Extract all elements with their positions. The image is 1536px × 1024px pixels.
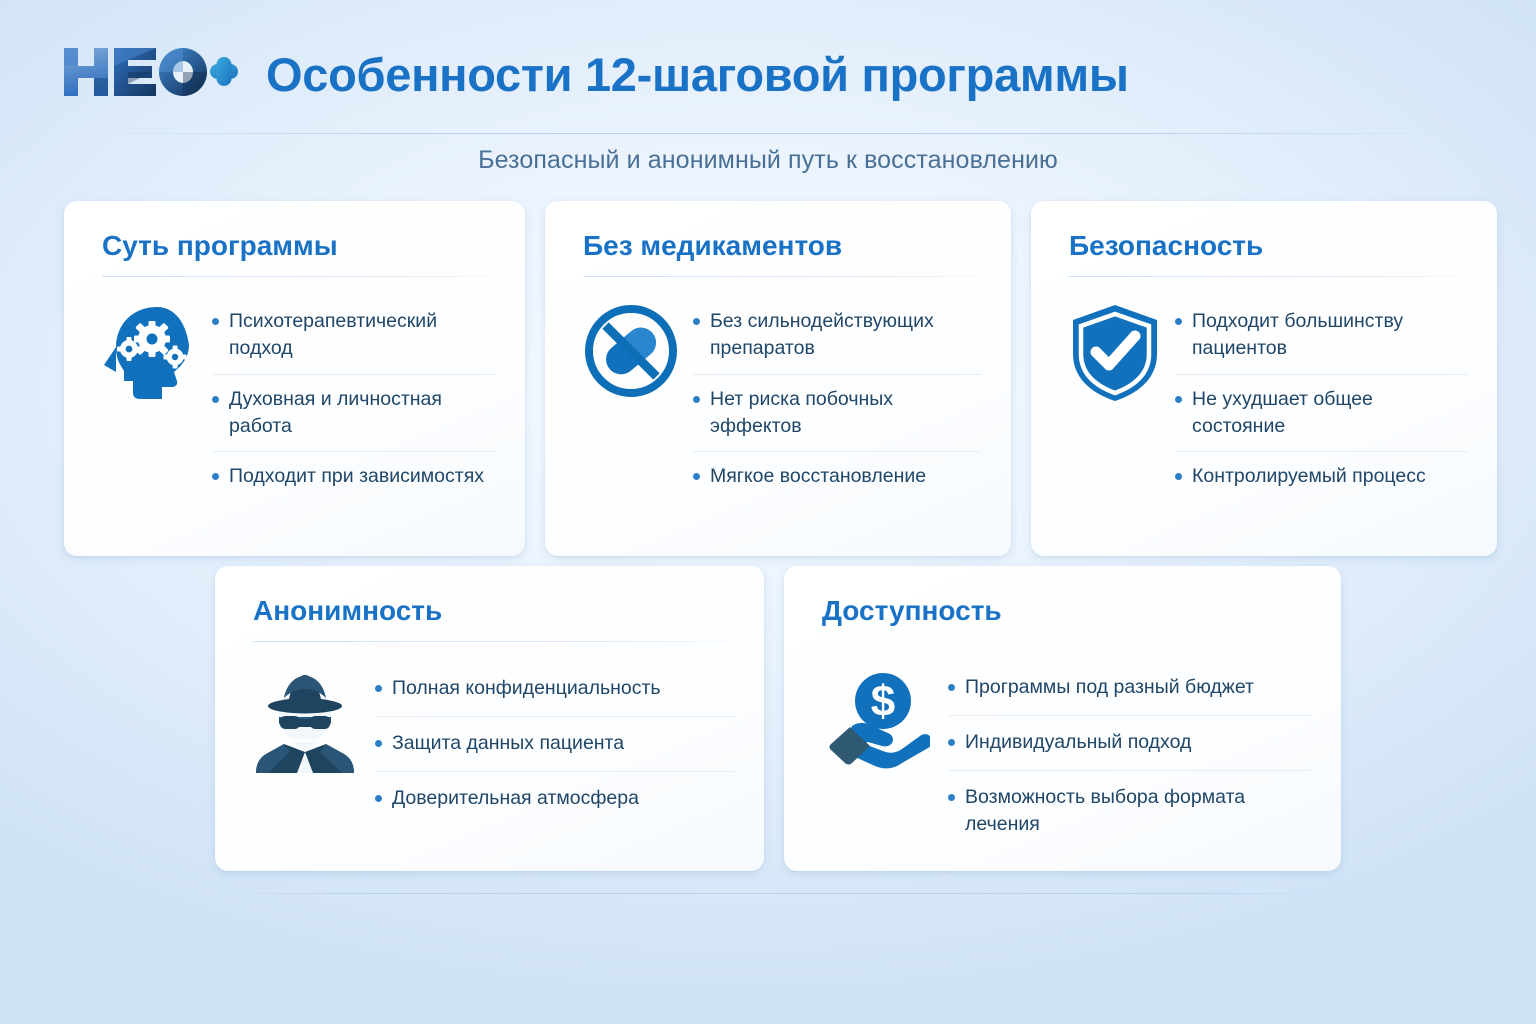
list-item: Духовная и личностная работа	[212, 374, 495, 452]
spy-incognito-icon	[253, 660, 357, 783]
list-item: Индивидуальный подход	[948, 715, 1311, 770]
card-title-divider	[253, 641, 734, 642]
card-bullet-list: Психотерапевтический подход Духовная и л…	[212, 295, 495, 503]
list-item-label: Без сильнодействующих препаратов	[710, 308, 981, 362]
no-pills-icon	[583, 295, 679, 404]
card-title-divider	[583, 276, 981, 277]
bullet-dot-icon	[948, 684, 955, 691]
svg-text:$: $	[871, 677, 895, 726]
list-item: Полная конфиденциальность	[375, 662, 734, 716]
list-item-label: Психотерапевтический подход	[229, 308, 495, 362]
bullet-dot-icon	[375, 795, 382, 802]
list-item-label: Защита данных пациента	[392, 730, 734, 757]
card-body: $ Программы под разный бюджет Индивидуал…	[822, 659, 1311, 852]
card-bezopasnost[interactable]: Безопасность Подходит большинству пациен…	[1031, 201, 1497, 556]
bullet-dot-icon	[948, 794, 955, 801]
card-title: Суть программы	[102, 231, 495, 262]
card-bullet-list: Программы под разный бюджет Индивидуальн…	[948, 659, 1311, 852]
list-item-label: Программы под разный бюджет	[965, 674, 1311, 701]
list-item-label: Духовная и личностная работа	[229, 386, 495, 440]
list-item: Доверительная атмосфера	[375, 771, 734, 826]
list-item: Защита данных пациента	[375, 716, 734, 771]
bullet-dot-icon	[693, 318, 700, 325]
card-title: Анонимность	[253, 596, 734, 627]
list-item: Контролируемый процесс	[1175, 451, 1467, 502]
page-title: Особенности 12-шаговой программы	[266, 51, 1129, 98]
card-bullet-list: Полная конфиденциальность Защита данных …	[375, 660, 734, 826]
bullet-dot-icon	[693, 396, 700, 403]
list-item: Возможность выбора формата лечения	[948, 770, 1311, 852]
card-bullet-list: Подходит большинству пациентов Не ухудша…	[1175, 295, 1467, 503]
list-item: Подходит большинству пациентов	[1175, 297, 1467, 374]
bullet-dot-icon	[1175, 396, 1182, 403]
card-title: Без медикаментов	[583, 231, 981, 262]
list-item-label: Доверительная атмосфера	[392, 785, 734, 812]
bullet-dot-icon	[1175, 318, 1182, 325]
list-item-label: Подходит большинству пациентов	[1192, 308, 1467, 362]
card-title-divider	[102, 276, 495, 277]
list-item: Не ухудшает общее состояние	[1175, 374, 1467, 452]
list-item: Мягкое восстановление	[693, 451, 981, 502]
shield-check-icon	[1069, 295, 1161, 408]
list-item-label: Мягкое восстановление	[710, 463, 981, 490]
list-item-label: Контролируемый процесс	[1192, 463, 1467, 490]
card-title: Доступность	[822, 596, 1311, 627]
head-with-gears-icon	[102, 295, 200, 408]
list-item: Нет риска побочных эффектов	[693, 374, 981, 452]
list-item: Подходит при зависимостях	[212, 451, 495, 502]
list-item-label: Не ухудшает общее состояние	[1192, 386, 1467, 440]
card-row-bottom: Анонимность	[215, 566, 1341, 871]
list-item: Без сильнодействующих препаратов	[693, 297, 981, 374]
bullet-dot-icon	[1175, 473, 1182, 480]
list-item-label: Возможность выбора формата лечения	[965, 784, 1311, 838]
list-item: Программы под разный бюджет	[948, 661, 1311, 715]
card-row-top: Суть программы	[64, 201, 1497, 556]
card-bez-medikamentov[interactable]: Без медикаментов Без сильнодействующих	[545, 201, 1011, 556]
card-body: Подходит большинству пациентов Не ухудша…	[1069, 295, 1467, 530]
bullet-dot-icon	[693, 473, 700, 480]
list-item: Психотерапевтический подход	[212, 297, 495, 374]
neo-plus-logo-icon	[62, 44, 240, 105]
card-body: Психотерапевтический подход Духовная и л…	[102, 295, 495, 530]
card-title-divider	[1069, 276, 1467, 277]
card-body: Без сильнодействующих препаратов Нет рис…	[583, 295, 981, 530]
list-item-label: Подходит при зависимостях	[229, 463, 495, 490]
card-anonimnost[interactable]: Анонимность	[215, 566, 764, 871]
footer-divider	[216, 893, 1326, 894]
card-title: Безопасность	[1069, 231, 1467, 262]
card-sut-programmy[interactable]: Суть программы	[64, 201, 525, 556]
list-item-label: Индивидуальный подход	[965, 729, 1311, 756]
page-header: Особенности 12-шаговой программы	[0, 0, 1536, 136]
card-dostupnost[interactable]: Доступность $ Программы под разный бюдже…	[784, 566, 1341, 871]
bullet-dot-icon	[375, 740, 382, 747]
list-item-label: Нет риска побочных эффектов	[710, 386, 981, 440]
header-divider	[66, 133, 1474, 134]
page-subtitle: Безопасный и анонимный путь к восстановл…	[0, 146, 1536, 175]
card-body: Полная конфиденциальность Защита данных …	[253, 660, 734, 845]
bullet-dot-icon	[948, 739, 955, 746]
bullet-dot-icon	[212, 396, 219, 403]
hand-with-dollar-coin-icon: $	[822, 659, 930, 776]
bullet-dot-icon	[375, 685, 382, 692]
header-brand-row: Особенности 12-шаговой программы	[62, 44, 1129, 105]
bullet-dot-icon	[212, 318, 219, 325]
bullet-dot-icon	[212, 473, 219, 480]
card-bullet-list: Без сильнодействующих препаратов Нет рис…	[693, 295, 981, 503]
list-item-label: Полная конфиденциальность	[392, 675, 734, 702]
